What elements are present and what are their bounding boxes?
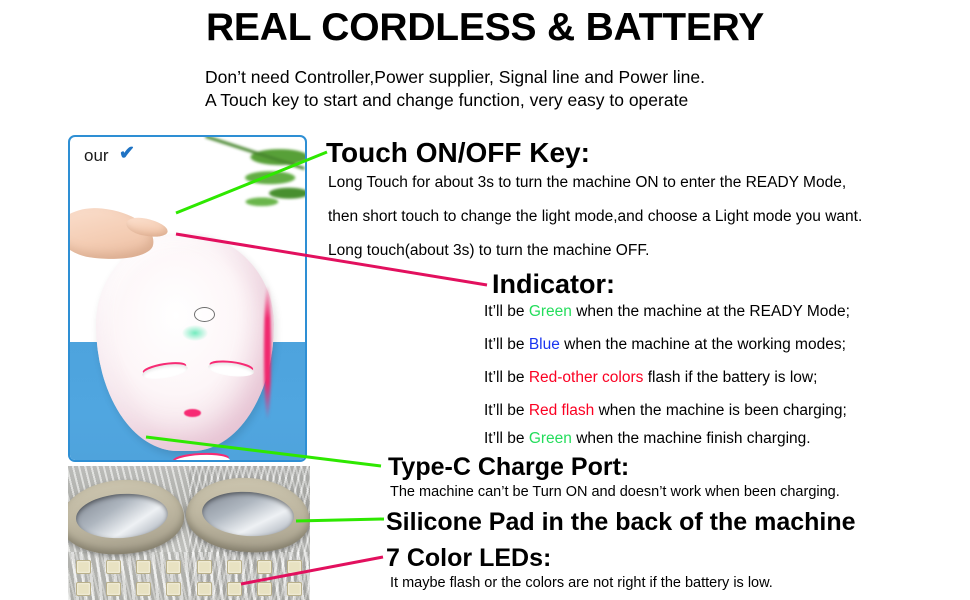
- led-row-bottom: [68, 580, 310, 598]
- heading-indicator: Indicator:: [492, 271, 615, 298]
- touch-power-button: [194, 307, 215, 322]
- touch-key-line-3: Long touch(about 3s) to turn the machine…: [328, 243, 649, 259]
- led-chip: [76, 582, 91, 596]
- indicator-line-1: It’ll be Green when the machine at the R…: [484, 304, 850, 320]
- indicator-prefix: It’ll be: [484, 430, 529, 447]
- mask-eye-opening-right: [207, 360, 254, 379]
- indicator-prefix: It’ll be: [484, 303, 529, 320]
- type-c-description: The machine can’t be Turn ON and doesn’t…: [390, 485, 840, 500]
- page-subtitle: Don’t need Controller,Power supplier, Si…: [205, 66, 825, 112]
- eye-lens-left: [75, 491, 170, 541]
- indicator-suffix: when the machine is been charging;: [594, 402, 846, 419]
- heading-type-c-charge-port: Type-C Charge Port:: [388, 455, 629, 480]
- indicator-prefix: It’ll be: [484, 369, 529, 386]
- checkmark-icon: ✔: [119, 144, 135, 163]
- led-chip: [136, 582, 151, 596]
- indicator-keyword: Red-other colors: [529, 369, 644, 386]
- led-chip: [287, 582, 302, 596]
- indicator-line-3: It’ll be Red-other colors flash if the b…: [484, 370, 817, 386]
- led-chip: [227, 582, 242, 596]
- mask-nose-opening: [184, 409, 201, 417]
- led-chip: [106, 582, 121, 596]
- touch-key-line-2: then short touch to change the light mod…: [328, 209, 862, 225]
- leds-description: It maybe flash or the colors are not rig…: [390, 576, 773, 591]
- led-chip: [197, 582, 212, 596]
- touch-key-line-1: Long Touch for about 3s to turn the mach…: [328, 175, 846, 191]
- page-title: REAL CORDLESS & BATTERY: [0, 8, 970, 49]
- led-chip: [197, 560, 212, 574]
- led-chip: [136, 560, 151, 574]
- led-chip: [287, 560, 302, 574]
- indicator-line-5: It’ll be Green when the machine finish c…: [484, 431, 811, 447]
- subtitle-line-1: Don’t need Controller,Power supplier, Si…: [205, 66, 825, 89]
- indicator-suffix: when the machine at the working modes;: [560, 336, 846, 353]
- led-chip: [257, 582, 272, 596]
- indicator-keyword: Green: [529, 303, 572, 320]
- indicator-light-glow: [182, 325, 208, 341]
- mask-photo: our ✔: [68, 135, 307, 462]
- palm-frond-decoration: [197, 135, 307, 219]
- mask-interior-photo: [68, 466, 310, 600]
- led-chip: [106, 560, 121, 574]
- heading-touch-key: Touch ON/OFF Key:: [326, 139, 590, 167]
- subtitle-line-2: A Touch key to start and change function…: [205, 89, 825, 112]
- led-row-top: [68, 558, 310, 576]
- heading-7-color-leds: 7 Color LEDs:: [386, 546, 551, 571]
- indicator-keyword: Green: [529, 430, 572, 447]
- indicator-line-4: It’ll be Red flash when the machine is b…: [484, 403, 847, 419]
- led-chip: [227, 560, 242, 574]
- eye-lens-right: [201, 489, 296, 539]
- led-chip: [166, 560, 181, 574]
- indicator-prefix: It’ll be: [484, 402, 529, 419]
- indicator-keyword: Red flash: [529, 402, 594, 419]
- indicator-suffix: flash if the battery is low;: [643, 369, 817, 386]
- led-chip: [257, 560, 272, 574]
- indicator-suffix: when the machine at the READY Mode;: [572, 303, 850, 320]
- led-chip: [166, 582, 181, 596]
- infographic-page: REAL CORDLESS & BATTERY Don’t need Contr…: [0, 0, 970, 600]
- indicator-keyword: Blue: [529, 336, 560, 353]
- indicator-prefix: It’ll be: [484, 336, 529, 353]
- mask-eye-opening-left: [141, 361, 188, 381]
- indicator-line-2: It’ll be Blue when the machine at the wo…: [484, 337, 846, 353]
- our-badge-label: our: [84, 147, 109, 164]
- indicator-suffix: when the machine finish charging.: [572, 430, 811, 447]
- led-chip: [76, 560, 91, 574]
- heading-silicone-pad: Silicone Pad in the back of the machine: [386, 510, 856, 535]
